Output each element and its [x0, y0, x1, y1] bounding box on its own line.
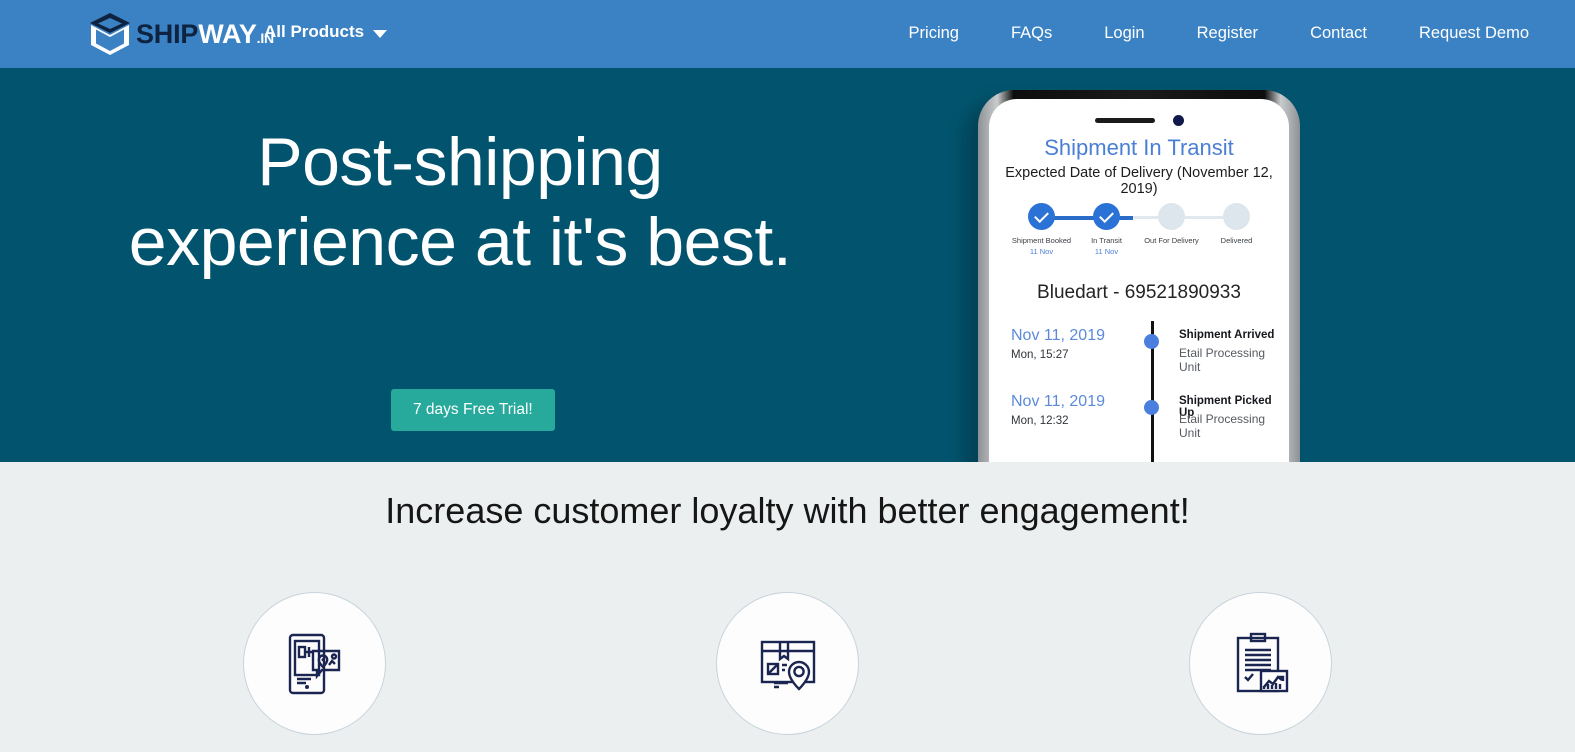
- event-date: Nov 11, 2019: [1011, 393, 1105, 411]
- timeline-dot-icon: [1144, 400, 1159, 415]
- mobile-tracking-map-icon: [276, 625, 354, 703]
- section-title: Increase customer loyalty with better en…: [0, 490, 1575, 532]
- event-location: Etail Processing Unit: [1179, 346, 1275, 374]
- free-trial-button[interactable]: 7 days Free Trial!: [391, 389, 555, 431]
- tracker-step-in-transit: In Transit 11 Nov: [1074, 203, 1139, 256]
- tracker-step-date: 11 Nov: [1030, 247, 1053, 256]
- event-time: Mon, 15:27: [1011, 349, 1069, 361]
- check-icon: [1028, 203, 1055, 230]
- tracker-step-label: In Transit: [1091, 236, 1122, 245]
- feature-card-reports[interactable]: [1189, 592, 1332, 735]
- event-title: Shipment Arrived: [1179, 329, 1274, 341]
- tracker-step-label: Out For Delivery: [1144, 236, 1199, 245]
- feature-cards: [0, 592, 1575, 735]
- landing-page: SHIPWAY.IN All Products Pricing FAQs Log…: [0, 0, 1575, 752]
- nav-item-request-demo[interactable]: Request Demo: [1393, 24, 1529, 43]
- tracker-step-out-for-delivery: Out For Delivery: [1139, 203, 1204, 256]
- all-products-label: All Products: [264, 22, 364, 42]
- tracker-step-label: Shipment Booked: [1012, 236, 1071, 245]
- phone-screen: Shipment In Transit Expected Date of Del…: [989, 99, 1289, 462]
- pending-step-icon: [1223, 203, 1250, 230]
- package-location-pin-icon: [749, 625, 827, 703]
- chevron-down-icon: [373, 30, 387, 38]
- clipboard-analytics-icon: [1222, 625, 1300, 703]
- courier-and-awb: Bluedart - 69521890933: [989, 282, 1289, 304]
- shipment-event-row: Nov 11, 2019 Mon, 15:27 Shipment Arrived…: [1011, 327, 1275, 393]
- expected-delivery-date: Expected Date of Delivery (November 12, …: [989, 165, 1289, 197]
- logo-text-way: WAY: [198, 21, 256, 48]
- phone-mockup: Shipment In Transit Expected Date of Del…: [978, 90, 1300, 462]
- speaker-grill-icon: [1095, 118, 1155, 123]
- nav-item-pricing[interactable]: Pricing: [883, 24, 985, 43]
- front-camera-icon: [1173, 115, 1184, 126]
- nav-item-faqs[interactable]: FAQs: [985, 24, 1078, 43]
- logo-text: SHIPWAY.IN: [136, 21, 274, 48]
- all-products-menu[interactable]: All Products: [264, 22, 387, 42]
- check-icon: [1093, 203, 1120, 230]
- event-date: Nov 11, 2019: [1011, 327, 1105, 345]
- nav-item-contact[interactable]: Contact: [1284, 24, 1393, 43]
- hero-headline: Post-shipping experience at it's best.: [120, 123, 800, 282]
- open-box-logo-icon: [88, 11, 132, 57]
- shipment-events-list: Nov 11, 2019 Mon, 15:27 Shipment Arrived…: [1011, 327, 1275, 459]
- event-time: Mon, 12:32: [1011, 415, 1069, 427]
- features-section: Increase customer loyalty with better en…: [0, 462, 1575, 752]
- feature-card-delivery-location[interactable]: [716, 592, 859, 735]
- tracker-step-label: Delivered: [1221, 236, 1253, 245]
- shipment-progress-tracker: Shipment Booked 11 Nov In Transit 11 Nov…: [1009, 203, 1269, 261]
- site-header: SHIPWAY.IN All Products Pricing FAQs Log…: [0, 0, 1575, 68]
- shipment-event-row: Nov 11, 2019 Mon, 12:32 Shipment Picked …: [1011, 393, 1275, 459]
- tracker-step-date: 11 Nov: [1095, 247, 1118, 256]
- pending-step-icon: [1158, 203, 1185, 230]
- tracker-step-delivered: Delivered: [1204, 203, 1269, 256]
- feature-card-tracking[interactable]: [243, 592, 386, 735]
- hero-section: Post-shipping experience at it's best. 7…: [0, 68, 1575, 462]
- tracking-title: Shipment In Transit: [989, 135, 1289, 161]
- nav-item-register[interactable]: Register: [1171, 24, 1284, 43]
- logo[interactable]: SHIPWAY.IN: [88, 11, 274, 57]
- phone-notch: [989, 115, 1289, 126]
- main-nav: Pricing FAQs Login Register Contact Requ…: [883, 24, 1529, 43]
- logo-text-ship: SHIP: [136, 21, 198, 48]
- tracker-step-shipment-booked: Shipment Booked 11 Nov: [1009, 203, 1074, 256]
- event-location: Etail Processing Unit: [1179, 412, 1275, 440]
- timeline-dot-icon: [1144, 334, 1159, 349]
- nav-item-login[interactable]: Login: [1078, 24, 1170, 43]
